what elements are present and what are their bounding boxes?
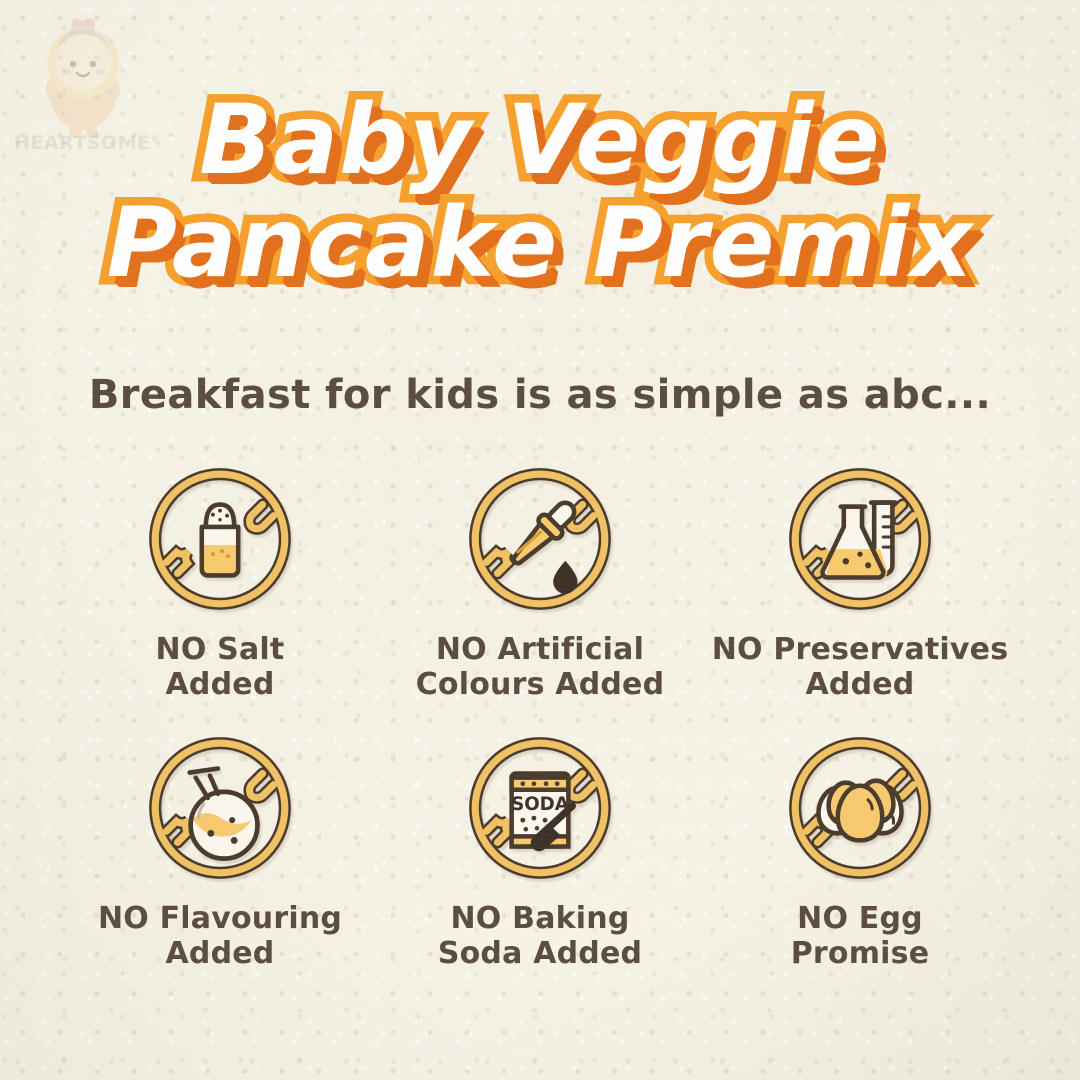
claim-caption: NO Preservatives Added [712,632,1009,703]
subtitle: Breakfast for kids is as simple as abc..… [0,372,1080,418]
claim-item-no-egg: NO Egg Promise [700,727,1020,972]
claim-item-no-baking-soda: SODA NO Baking Soda Added [380,727,700,972]
claim-line-1: NO Artificial [436,632,644,667]
claim-line-1: NO Egg [797,901,923,936]
claim-caption: NO Baking Soda Added [438,901,642,972]
poster-canvas: HEARTSOME® Baby Veggie Pancake Premix Br… [0,0,1080,1080]
claim-item-no-salt: NO Salt Added [60,458,380,703]
round-flask-no-icon [139,727,301,889]
title-line-1-text: Baby Veggie [199,94,881,187]
claim-caption: NO Artificial Colours Added [416,632,665,703]
claim-line-2: Added [156,667,285,702]
claim-item-no-artificial-colours: NO Artificial Colours Added [380,458,700,703]
dropper-no-icon [459,458,621,620]
claim-line-2: Colours Added [416,667,665,702]
claim-line-2: Promise [791,936,930,971]
eggs-no-icon [779,727,941,889]
soda-box-no-icon: SODA [459,727,621,889]
claim-line-1: NO Salt [156,632,285,667]
claim-line-2: Added [712,667,1009,702]
claim-line-1: NO Baking [450,901,629,936]
title-line-2-text: Pancake Premix [107,197,974,290]
claims-grid: NO Salt Added [60,458,1020,972]
claim-line-2: Soda Added [438,936,642,971]
title-line-1: Baby Veggie [0,94,1080,187]
flask-tube-no-icon [779,458,941,620]
claim-line-1: NO Preservatives [712,632,1009,667]
title-line-2: Pancake Premix [0,197,1080,290]
claim-caption: NO Egg Promise [791,901,930,972]
claim-line-2: Added [98,936,342,971]
salt-shaker-no-icon [139,458,301,620]
product-title: Baby Veggie Pancake Premix [0,94,1080,290]
claim-item-no-flavouring: NO Flavouring Added [60,727,380,972]
claim-caption: NO Flavouring Added [98,901,342,972]
claim-line-1: NO Flavouring [98,901,342,936]
claim-item-no-preservatives: NO Preservatives Added [700,458,1020,703]
claim-caption: NO Salt Added [156,632,285,703]
